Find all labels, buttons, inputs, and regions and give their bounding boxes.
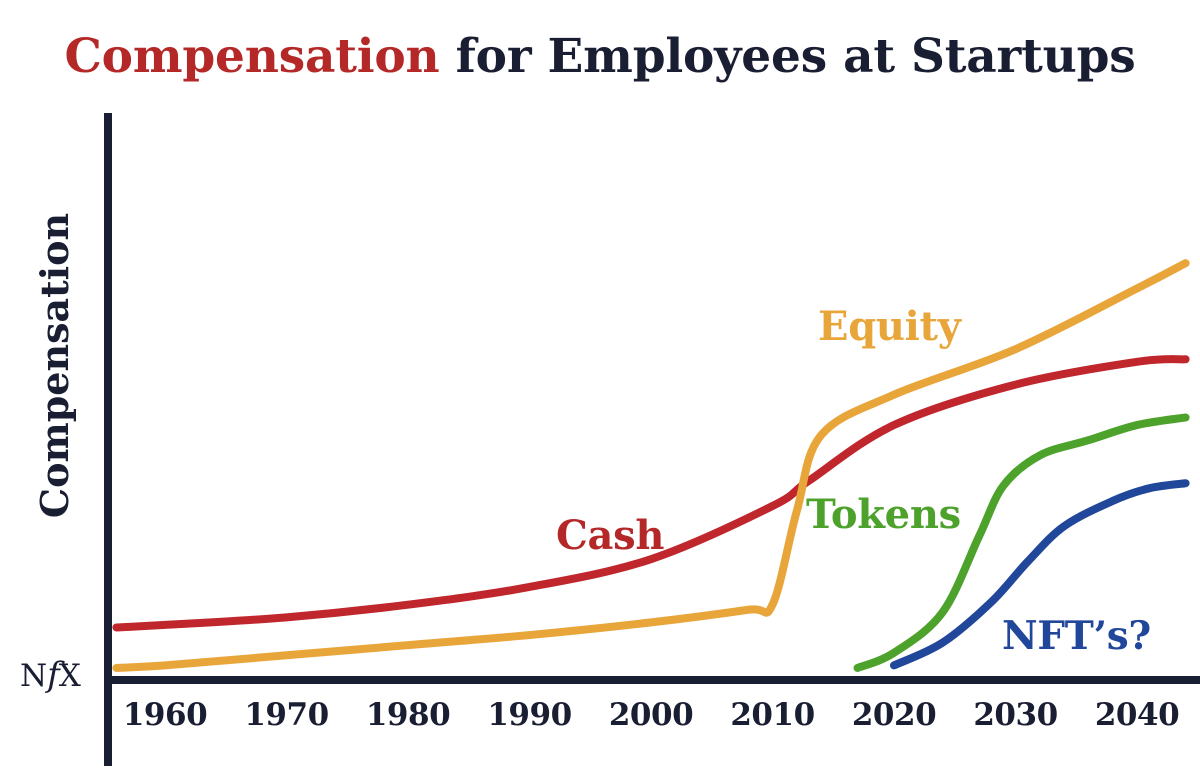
series-line-cash <box>116 359 1185 627</box>
x-tick-2000: 2000 <box>609 697 693 733</box>
x-tick-2030: 2030 <box>973 697 1057 733</box>
x-tick-2010: 2010 <box>730 697 814 733</box>
x-tick-1980: 1980 <box>366 697 450 733</box>
x-tick-1970: 1970 <box>244 697 328 733</box>
series-label-nft: NFT’s? <box>1002 613 1151 659</box>
series-label-cash: Cash <box>556 512 664 559</box>
chart-canvas: Compensation for Employees at Startups C… <box>0 0 1200 772</box>
x-tick-2020: 2020 <box>852 697 936 733</box>
series-label-tokens: Tokens <box>806 491 961 538</box>
x-tick-1960: 1960 <box>123 697 207 733</box>
x-tick-2040: 2040 <box>1095 697 1179 733</box>
x-tick-1990: 1990 <box>487 697 571 733</box>
series-layer <box>116 263 1185 668</box>
series-label-equity: Equity <box>818 303 961 350</box>
